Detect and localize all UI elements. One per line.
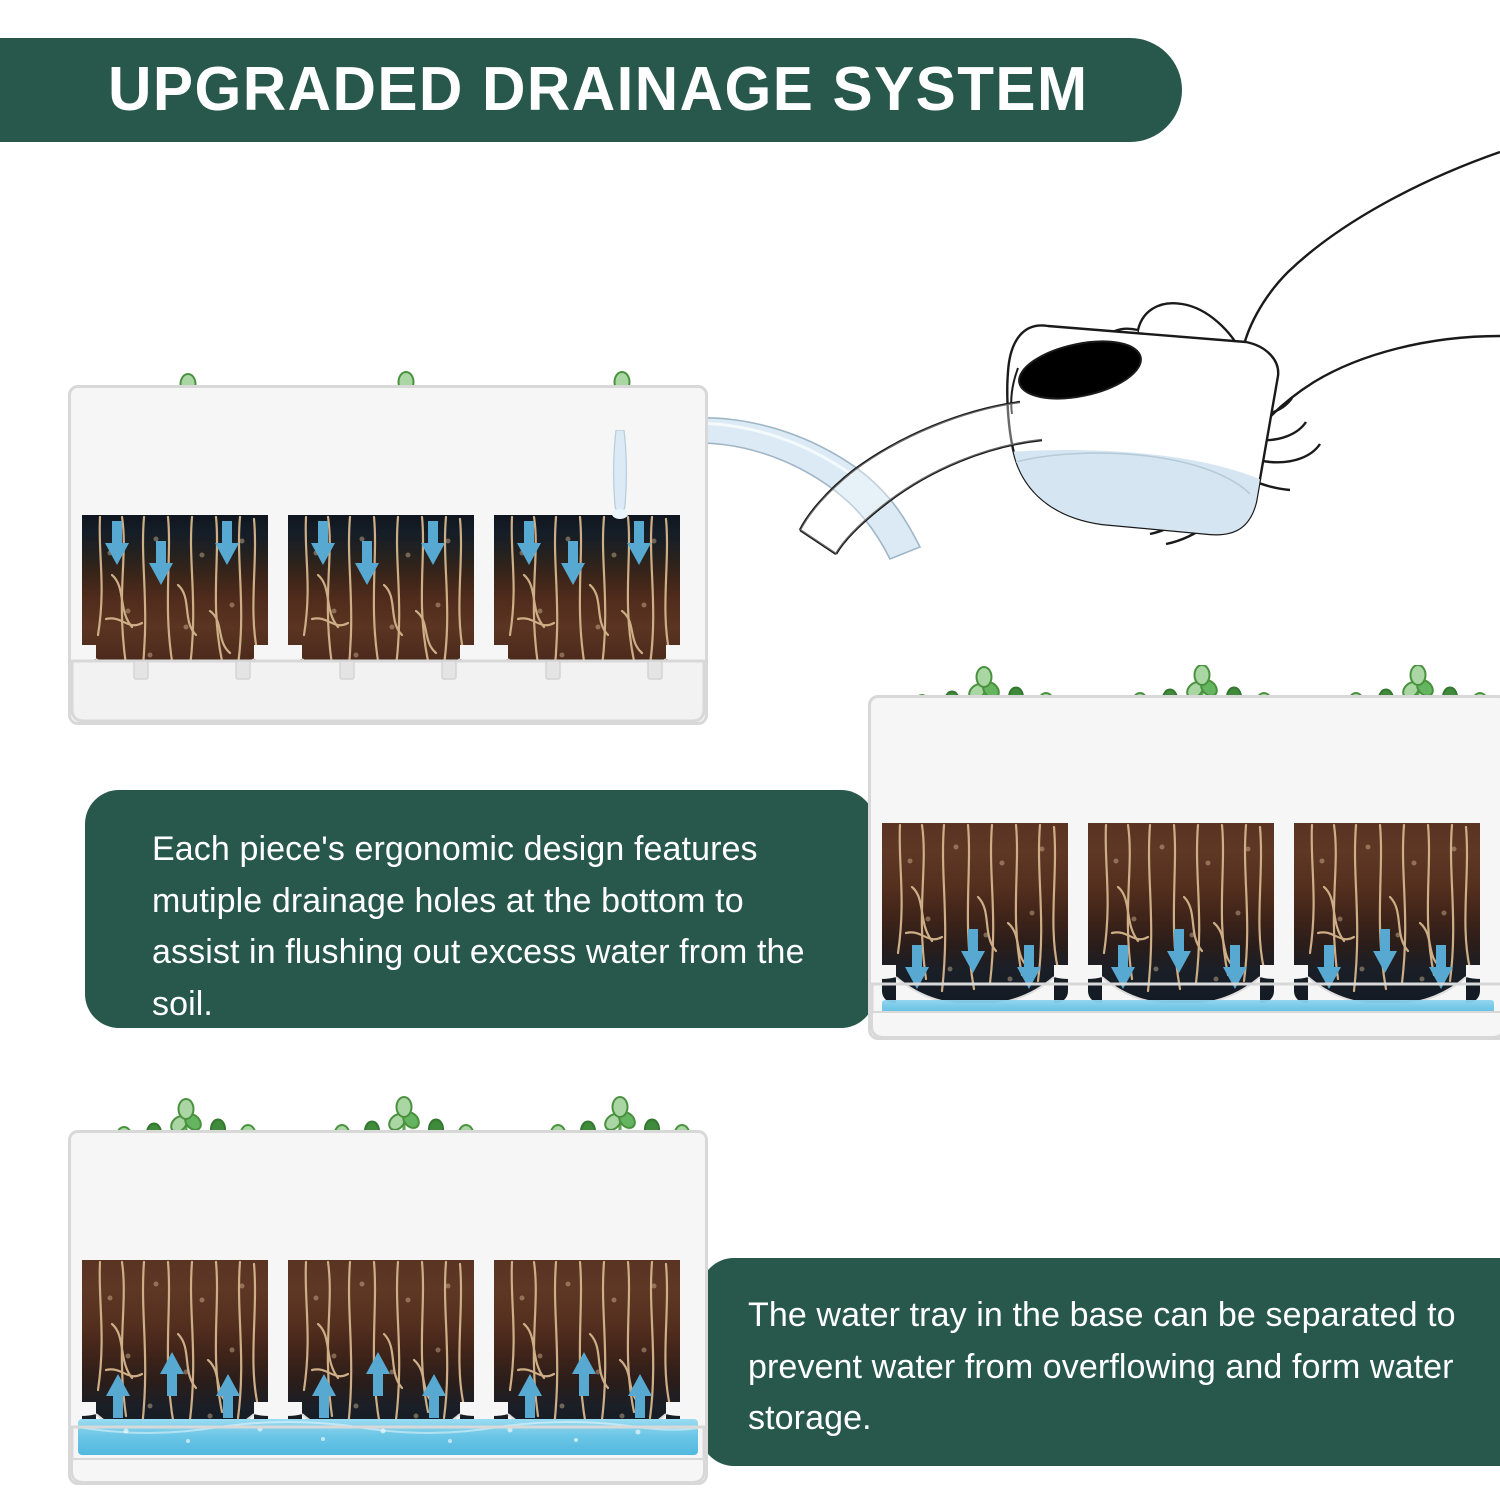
water-flow-arrow-up <box>572 1352 596 1396</box>
water-flow-arrow-down <box>420 521 446 565</box>
water-flow-arrow-down <box>310 521 336 565</box>
water-flow-arrow-down <box>148 541 174 585</box>
water-flow-arrow-down <box>1372 929 1398 973</box>
water-flow-arrow-down <box>626 521 652 565</box>
water-flow-arrow-down <box>1166 929 1192 973</box>
callout-drainage: Each piece's ergonomic design features m… <box>85 790 875 1028</box>
infographic-canvas: UPGRADED DRAINAGE SYSTEM <box>0 0 1500 1500</box>
water-flow-arrow-up <box>518 1374 542 1418</box>
callout-drainage-text: Each piece's ergonomic design features m… <box>152 824 835 1031</box>
water-drip-into-soil <box>608 430 634 520</box>
planter-cell <box>82 1260 268 1440</box>
water-flow-arrow-up <box>422 1374 446 1418</box>
page-title: UPGRADED DRAINAGE SYSTEM <box>108 59 1089 121</box>
water-flow-arrow-down <box>560 541 586 585</box>
tray-base-rail <box>68 1425 708 1485</box>
hand-holding-watering-can <box>780 140 1500 560</box>
planter-cell <box>1294 823 1480 1003</box>
planter-middle-right <box>868 695 1500 1040</box>
water-flow-arrow-down <box>214 521 240 565</box>
planter-cell <box>494 1260 680 1440</box>
water-flow-arrow-up <box>160 1352 184 1396</box>
water-flow-arrow-up <box>312 1374 336 1418</box>
water-flow-arrow-down <box>354 541 380 585</box>
callout-water-tray-text: The water tray in the base can be separa… <box>748 1290 1460 1445</box>
water-flow-arrow-up <box>106 1374 130 1418</box>
tray-base-rail <box>868 982 1500 1040</box>
planter-cell <box>882 823 1068 1003</box>
planter-cell <box>288 1260 474 1440</box>
water-flow-arrow-up <box>216 1374 240 1418</box>
water-flow-arrow-down <box>516 521 542 565</box>
water-flow-arrow-up <box>628 1374 652 1418</box>
callout-water-tray: The water tray in the base can be separa… <box>700 1258 1500 1466</box>
tray-base-rail <box>68 659 708 725</box>
water-flow-arrow-down <box>960 929 986 973</box>
planter-bottom-left <box>68 1130 708 1485</box>
water-flow-arrow-up <box>366 1352 390 1396</box>
header-banner: UPGRADED DRAINAGE SYSTEM <box>0 38 1182 142</box>
planter-cell <box>1088 823 1274 1003</box>
water-flow-arrow-down <box>104 521 130 565</box>
